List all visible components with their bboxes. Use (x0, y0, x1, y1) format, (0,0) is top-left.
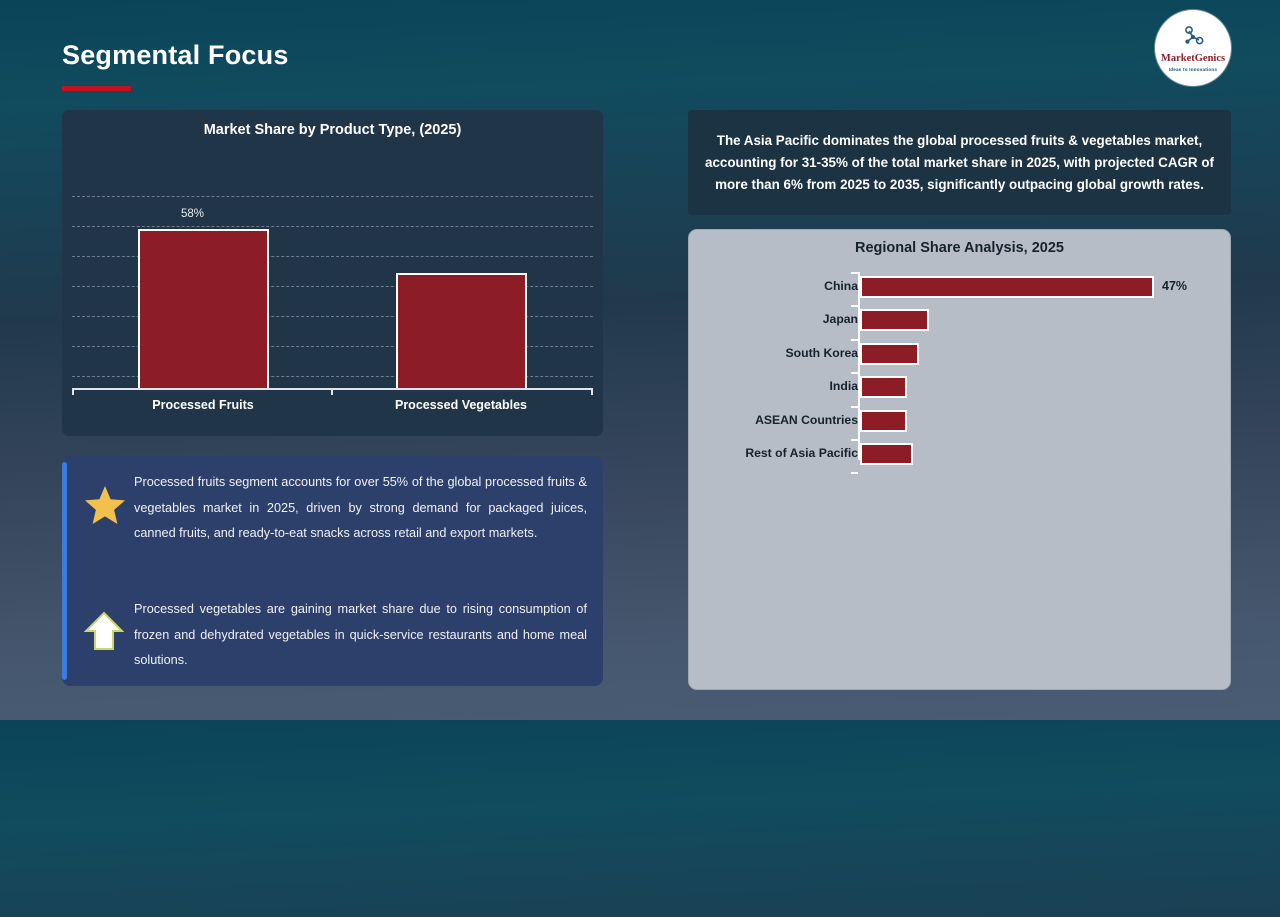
list-item-text: Processed fruits segment accounts for ov… (134, 470, 595, 547)
chart-bar (860, 276, 1154, 298)
star-icon (84, 470, 134, 547)
axis-tick (591, 388, 593, 395)
axis-tick (851, 372, 858, 374)
chart-bar (138, 229, 269, 388)
axis-tick (331, 388, 333, 395)
panel-accent-bar (62, 462, 67, 680)
regional-share-card: Regional Share Analysis, 2025 China47%Ja… (688, 229, 1231, 690)
axis-tick (851, 305, 858, 307)
category-label: Rest of Asia Pacific (745, 446, 858, 460)
category-label: China (824, 279, 858, 293)
category-label: South Korea (786, 346, 858, 360)
insights-panel: Processed fruits segment accounts for ov… (62, 456, 603, 686)
callout-banner: The Asia Pacific dominates the global pr… (688, 110, 1231, 215)
axis-tick (851, 339, 858, 341)
bar-value-label: 47% (1162, 279, 1187, 293)
brand-logo: MarketGenics Ideas to Innovations (1155, 10, 1231, 86)
list-item: Processed vegetables are gaining market … (84, 597, 595, 674)
axis-tick (851, 439, 858, 441)
category-label: Japan (823, 312, 858, 326)
axis-tick (851, 272, 858, 274)
title-underline-rule (62, 86, 131, 91)
left-chart-plot-area: 58% (72, 196, 593, 388)
up-arrow-icon (84, 597, 134, 674)
table-row: China47% (689, 272, 1232, 305)
callout-text: The Asia Pacific dominates the global pr… (688, 130, 1231, 196)
logo-tagline: Ideas to Innovations (1169, 67, 1217, 72)
category-label: Processed Vegetables (371, 398, 551, 412)
left-chart-title: Market Share by Product Type, (2025) (62, 122, 603, 138)
table-row: Japan (689, 305, 1232, 338)
bar-column (396, 273, 527, 388)
table-row: Rest of Asia Pacific (689, 439, 1232, 472)
left-chart-bars: 58% (72, 196, 593, 388)
table-row: South Korea (689, 339, 1232, 372)
chart-bar (860, 410, 907, 432)
page-title: Segmental Focus (62, 40, 289, 71)
axis-tick (72, 388, 74, 395)
molecule-node-icon (1180, 26, 1206, 53)
right-chart-title: Regional Share Analysis, 2025 (689, 240, 1230, 256)
bar-column (138, 229, 269, 388)
category-label: India (830, 379, 858, 393)
table-row: India (689, 372, 1232, 405)
category-label: Processed Fruits (113, 398, 293, 412)
axis-tick (851, 406, 858, 408)
chart-bar (396, 273, 527, 388)
chart-bar (860, 443, 913, 465)
market-share-chart-card: Market Share by Product Type, (2025) 58%… (62, 110, 603, 436)
bar-value-label: 58% (181, 208, 204, 220)
chart-bar (860, 309, 929, 331)
left-chart-x-axis (72, 388, 593, 395)
axis-tick (851, 472, 858, 474)
category-label: ASEAN Countries (755, 413, 858, 427)
list-item: Processed fruits segment accounts for ov… (84, 470, 595, 547)
table-row: ASEAN Countries (689, 406, 1232, 439)
chart-bar (860, 343, 919, 365)
chart-bar (860, 376, 907, 398)
right-chart-plot-area: China47%JapanSouth KoreaIndiaASEAN Count… (689, 268, 1232, 468)
logo-brand-text: MarketGenics (1161, 54, 1225, 65)
list-item-text: Processed vegetables are gaining market … (134, 597, 595, 674)
